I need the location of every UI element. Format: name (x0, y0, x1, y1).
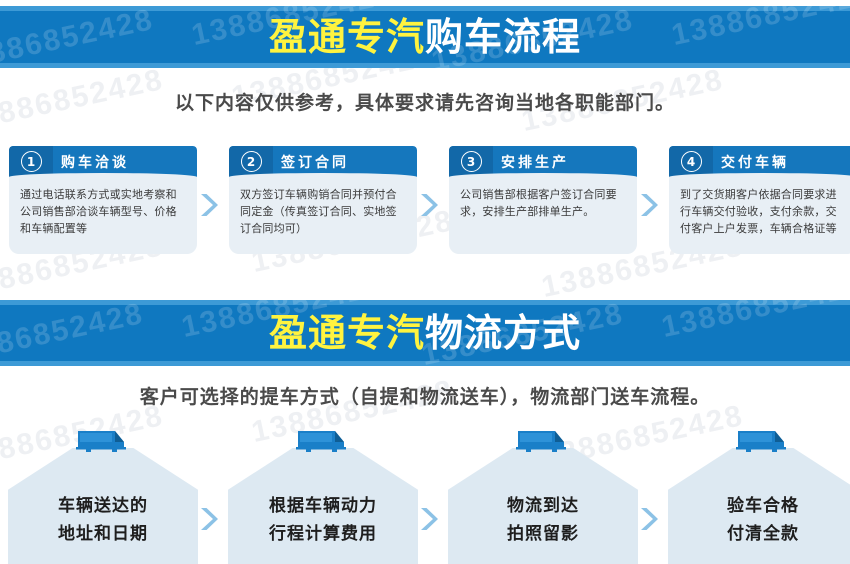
step-header: 4 交付车辆 (669, 146, 850, 177)
logistics-steps-row: 车辆送达的 地址和日期 根据车辆动力 行程计算费用 (0, 428, 850, 564)
step-body-text: 双方签订车辆购销合同并预付合同定金（传真签订合同、实地签订合同均可） (229, 177, 417, 237)
chevron-right-icon (637, 506, 659, 532)
logistics-label: 根据车辆动力 行程计算费用 (269, 464, 377, 548)
truck-icon (295, 428, 351, 454)
logistics-step-card[interactable]: 物流到达 拍照留影 (448, 428, 638, 564)
logistics-label-line2: 行程计算费用 (269, 520, 377, 548)
logistics-subtitle: 客户可选择的提车方式（自提和物流送车），物流部门送车流程。 (0, 382, 850, 409)
step-number-text: 2 (241, 151, 262, 172)
logistics-panel: 物流到达 拍照留影 (448, 448, 638, 564)
logistics-label-line2: 地址和日期 (58, 520, 148, 548)
logistics-panel: 车辆送达的 地址和日期 (8, 448, 198, 564)
chevron-right-icon (417, 192, 439, 218)
chevron-right-icon (417, 506, 439, 532)
step-number-text: 3 (461, 151, 482, 172)
step-number-badge: 2 (229, 146, 273, 177)
brand-name: 盈通专汽 (269, 15, 425, 59)
banner-subject: 购车流程 (425, 15, 581, 59)
logistics-label-line1: 验车合格 (727, 492, 799, 520)
step-number-text: 1 (21, 151, 42, 172)
step-title: 安排生产 (501, 152, 569, 172)
logistics-label: 物流到达 拍照留影 (507, 464, 579, 548)
purchase-step-card[interactable]: 4 交付车辆 到了交货期客户依据合同要求进行车辆交付验收，支付余款，交付客户上户… (669, 146, 850, 254)
step-body-text: 通过电话联系方式或实地考察和公司销售部洽谈车辆型号、价格和车辆配置等 (9, 177, 197, 237)
truck-icon (515, 428, 571, 454)
logistics-label-line2: 付清全款 (727, 520, 799, 548)
step-title: 交付车辆 (721, 152, 789, 172)
step-number-text: 4 (681, 151, 702, 172)
purchase-banner-title: 盈通专汽购车流程 (269, 18, 581, 56)
logistics-banner: 13886852428 13886852428 13886852428 1388… (0, 300, 850, 366)
step-body-text: 到了交货期客户依据合同要求进行车辆交付验收，支付余款，交付客户上户发票，车辆合格… (669, 177, 850, 237)
step-number-badge: 3 (449, 146, 493, 177)
logistics-panel: 验车合格 付清全款 (668, 448, 850, 564)
logistics-step-card[interactable]: 车辆送达的 地址和日期 (8, 428, 198, 564)
chevron-right-icon (197, 192, 219, 218)
purchase-banner: 13886852428 13886852428 13886852428 1388… (0, 6, 850, 68)
step-header: 3 安排生产 (449, 146, 637, 177)
step-header: 1 购车洽谈 (9, 146, 197, 177)
purchase-step-card[interactable]: 2 签订合同 双方签订车辆购销合同并预付合同定金（传真签订合同、实地签订合同均可… (229, 146, 417, 254)
logistics-label-line1: 根据车辆动力 (269, 492, 377, 520)
step-header: 2 签订合同 (229, 146, 417, 177)
logistics-step-card[interactable]: 验车合格 付清全款 (668, 428, 850, 564)
banner-subject: 物流方式 (425, 311, 581, 355)
step-body-text: 公司销售部根据客户签订合同要求，安排生产部排单生产。 (449, 177, 637, 220)
brand-name: 盈通专汽 (269, 311, 425, 355)
logistics-panel: 根据车辆动力 行程计算费用 (228, 448, 418, 564)
logistics-banner-title: 盈通专汽物流方式 (269, 314, 581, 352)
logistics-label: 车辆送达的 地址和日期 (58, 464, 148, 548)
step-title: 购车洽谈 (61, 152, 129, 172)
truck-icon (75, 428, 131, 454)
purchase-step-card[interactable]: 1 购车洽谈 通过电话联系方式或实地考察和公司销售部洽谈车辆型号、价格和车辆配置… (9, 146, 197, 254)
step-title: 签订合同 (281, 152, 349, 172)
step-number-badge: 4 (669, 146, 713, 177)
step-number-badge: 1 (9, 146, 53, 177)
purchase-step-card[interactable]: 3 安排生产 公司销售部根据客户签订合同要求，安排生产部排单生产。 (449, 146, 637, 254)
chevron-right-icon (197, 506, 219, 532)
logistics-label-line1: 车辆送达的 (58, 492, 148, 520)
purchase-subtitle: 以下内容仅供参考，具体要求请先咨询当地各职能部门。 (0, 88, 850, 115)
chevron-right-icon (637, 192, 659, 218)
logistics-label-line1: 物流到达 (507, 492, 579, 520)
logistics-label-line2: 拍照留影 (507, 520, 579, 548)
logistics-label: 验车合格 付清全款 (727, 464, 799, 548)
truck-icon (735, 428, 791, 454)
logistics-step-card[interactable]: 根据车辆动力 行程计算费用 (228, 428, 418, 564)
